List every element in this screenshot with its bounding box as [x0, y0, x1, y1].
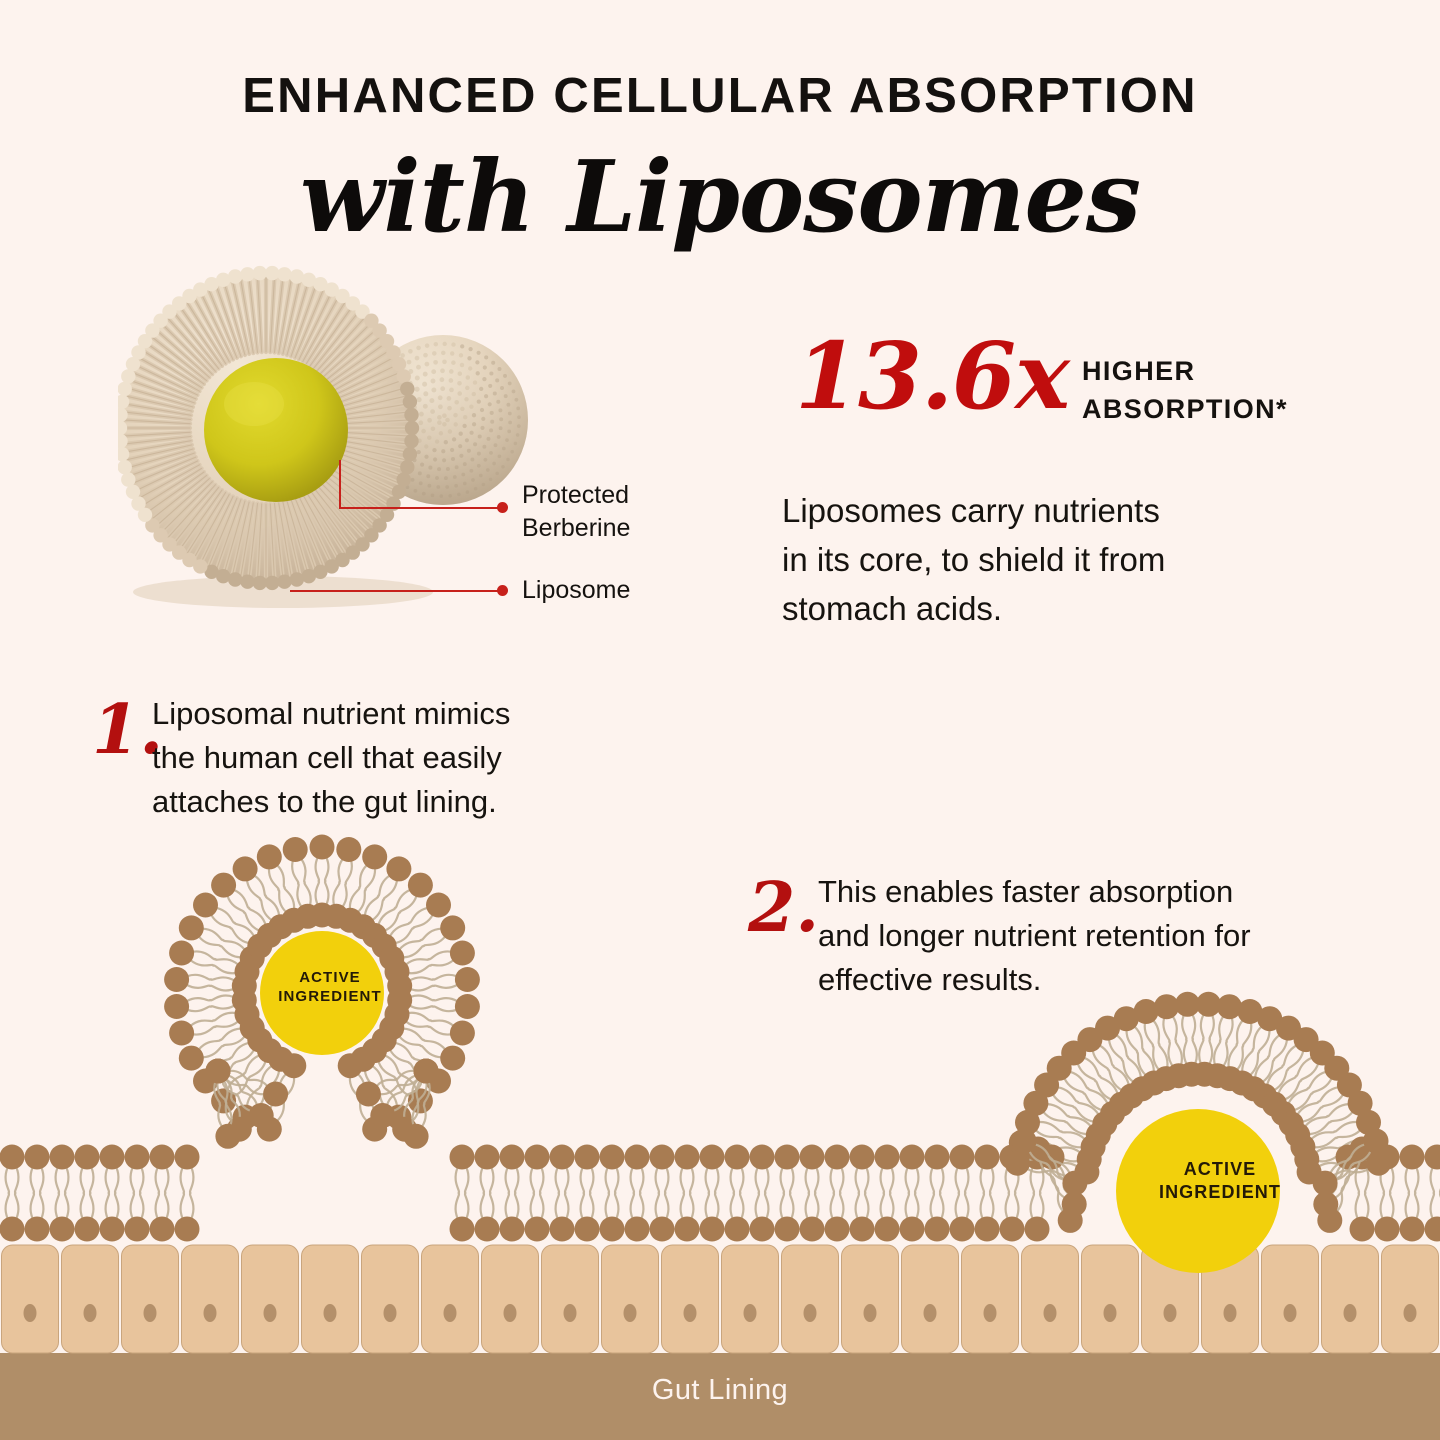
gut-lining-label: Gut Lining	[0, 1374, 1440, 1407]
gut-absorption-diagram	[0, 0, 1440, 1440]
gut-lining-layer	[0, 1245, 1440, 1440]
infographic-canvas: ENHANCED CELLULAR ABSORPTION with Liposo…	[0, 0, 1440, 1440]
